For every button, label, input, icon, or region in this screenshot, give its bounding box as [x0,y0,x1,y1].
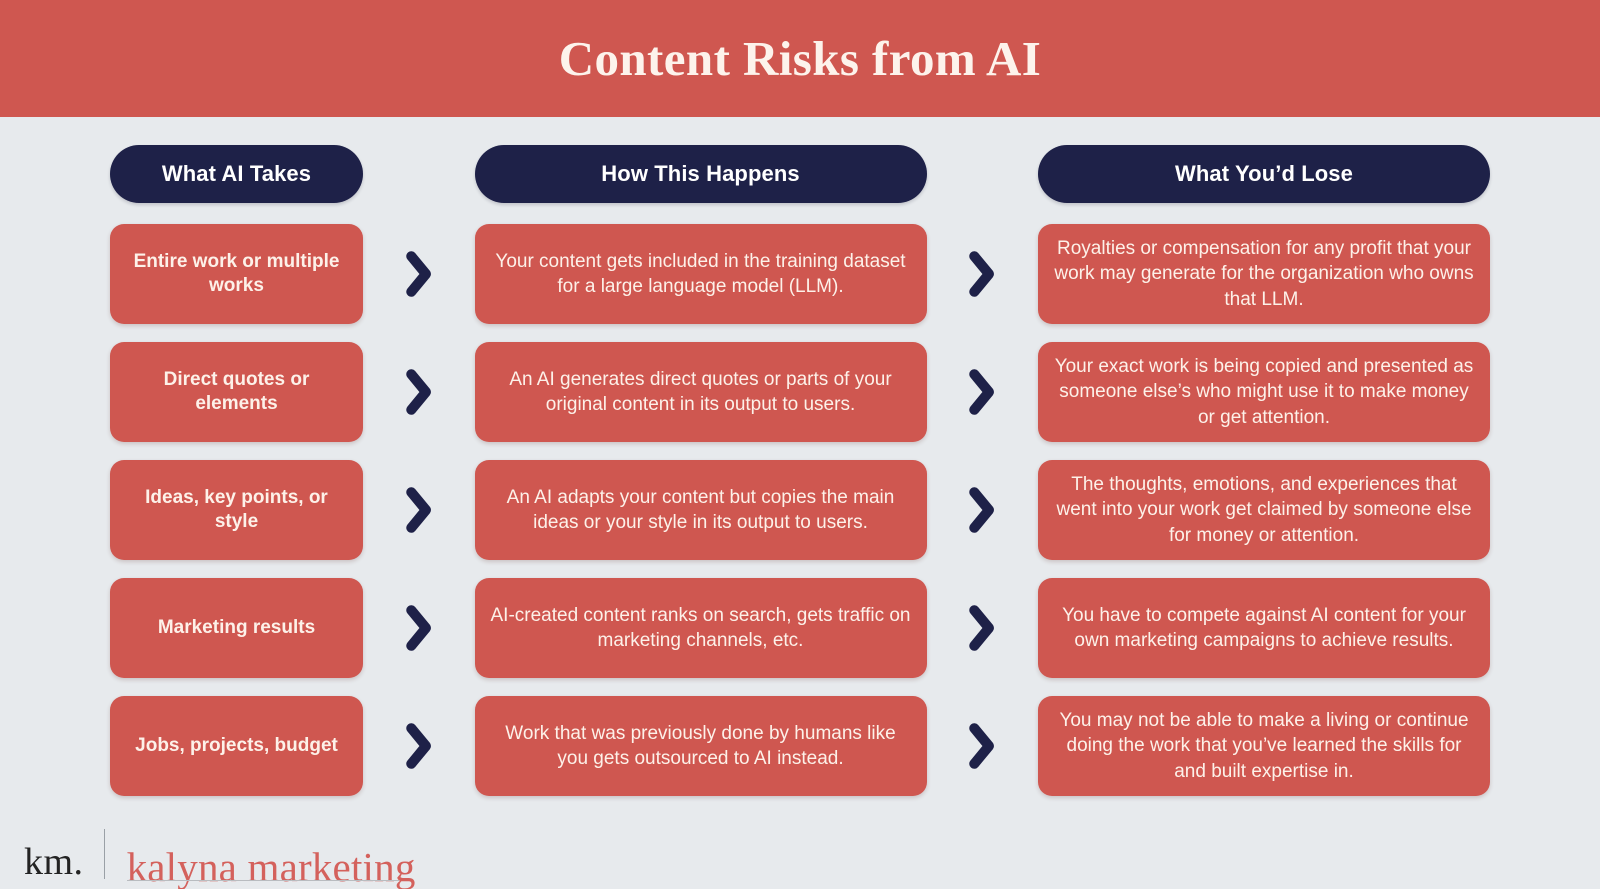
table-row: Jobs, projects, budget Work that was pre… [110,696,1490,796]
chevron-right-icon [402,602,436,654]
table-row: Marketing results AI-created content ran… [110,578,1490,678]
cell-text: Your content gets included in the traini… [491,249,911,300]
logo-brand-name: kalyna marketing [127,847,416,889]
arrow-cell [927,696,1039,796]
cell-text: You may not be able to make a living or … [1054,708,1474,784]
cell-what-ai-takes: Marketing results [110,578,363,678]
arrow-cell [363,696,475,796]
brand-logo: km. kalyna marketing [24,829,416,881]
rows-container: Entire work or multiple works Your conte… [110,224,1490,796]
footer: km. kalyna marketing [0,811,1600,889]
cell-text: An AI adapts your content but copies the… [491,485,911,536]
table-row: Direct quotes or elements An AI generate… [110,342,1490,442]
column-header-row: What AI Takes How This Happens What You’… [110,145,1490,203]
arrow-cell [927,224,1039,324]
cell-how-this-happens: Your content gets included in the traini… [475,224,927,324]
arrow-cell [363,224,475,324]
cell-what-youd-lose: You have to compete against AI content f… [1038,578,1490,678]
logo-underline [127,880,399,881]
table-row: Entire work or multiple works Your conte… [110,224,1490,324]
cell-text: You have to compete against AI content f… [1054,603,1474,654]
chevron-right-icon [402,720,436,772]
chevron-right-icon [965,366,999,418]
column-header-label: What AI Takes [162,163,311,185]
cell-what-ai-takes: Ideas, key points, or style [110,460,363,560]
cell-text: Direct quotes or elements [126,368,347,417]
cell-how-this-happens: An AI generates direct quotes or parts o… [475,342,927,442]
arrow-cell [363,460,475,560]
table-row: Ideas, key points, or style An AI adapts… [110,460,1490,560]
arrow-cell [927,460,1039,560]
cell-text: AI-created content ranks on search, gets… [491,603,911,654]
cell-how-this-happens: AI-created content ranks on search, gets… [475,578,927,678]
cell-what-youd-lose: You may not be able to make a living or … [1038,696,1490,796]
cell-text: An AI generates direct quotes or parts o… [491,367,911,418]
cell-text: Royalties or compensation for any profit… [1054,236,1474,312]
column-header-what-youd-lose: What You’d Lose [1038,145,1490,203]
chevron-right-icon [965,720,999,772]
cell-what-ai-takes: Jobs, projects, budget [110,696,363,796]
logo-monogram: km. [24,843,104,881]
arrow-cell [927,342,1039,442]
cell-text: Entire work or multiple works [126,250,347,299]
chevron-right-icon [402,248,436,300]
cell-text: Work that was previously done by humans … [491,721,911,772]
page-title: Content Risks from AI [559,34,1042,83]
arrow-cell [363,342,475,442]
cell-how-this-happens: Work that was previously done by humans … [475,696,927,796]
cell-what-youd-lose: Your exact work is being copied and pres… [1038,342,1490,442]
chevron-right-icon [965,248,999,300]
cell-what-youd-lose: Royalties or compensation for any profit… [1038,224,1490,324]
cell-text: Your exact work is being copied and pres… [1054,354,1474,430]
board: What AI Takes How This Happens What You’… [0,117,1600,811]
chevron-right-icon [965,484,999,536]
cell-what-ai-takes: Direct quotes or elements [110,342,363,442]
infographic-root: Content Risks from AI What AI Takes How … [0,0,1600,889]
column-header-what-ai-takes: What AI Takes [110,145,363,203]
arrow-cell [363,578,475,678]
chevron-right-icon [402,366,436,418]
column-header-label: What You’d Lose [1175,163,1353,185]
title-bar: Content Risks from AI [0,0,1600,117]
column-header-how-this-happens: How This Happens [475,145,927,203]
cell-how-this-happens: An AI adapts your content but copies the… [475,460,927,560]
chevron-right-icon [965,602,999,654]
chevron-right-icon [402,484,436,536]
logo-name-wrap: kalyna marketing [105,847,416,881]
arrow-cell [927,578,1039,678]
cell-text: The thoughts, emotions, and experiences … [1054,472,1474,548]
cell-text: Marketing results [126,616,347,640]
column-header-label: How This Happens [601,163,799,185]
cell-text: Ideas, key points, or style [126,486,347,535]
cell-text: Jobs, projects, budget [126,734,347,758]
cell-what-ai-takes: Entire work or multiple works [110,224,363,324]
cell-what-youd-lose: The thoughts, emotions, and experiences … [1038,460,1490,560]
